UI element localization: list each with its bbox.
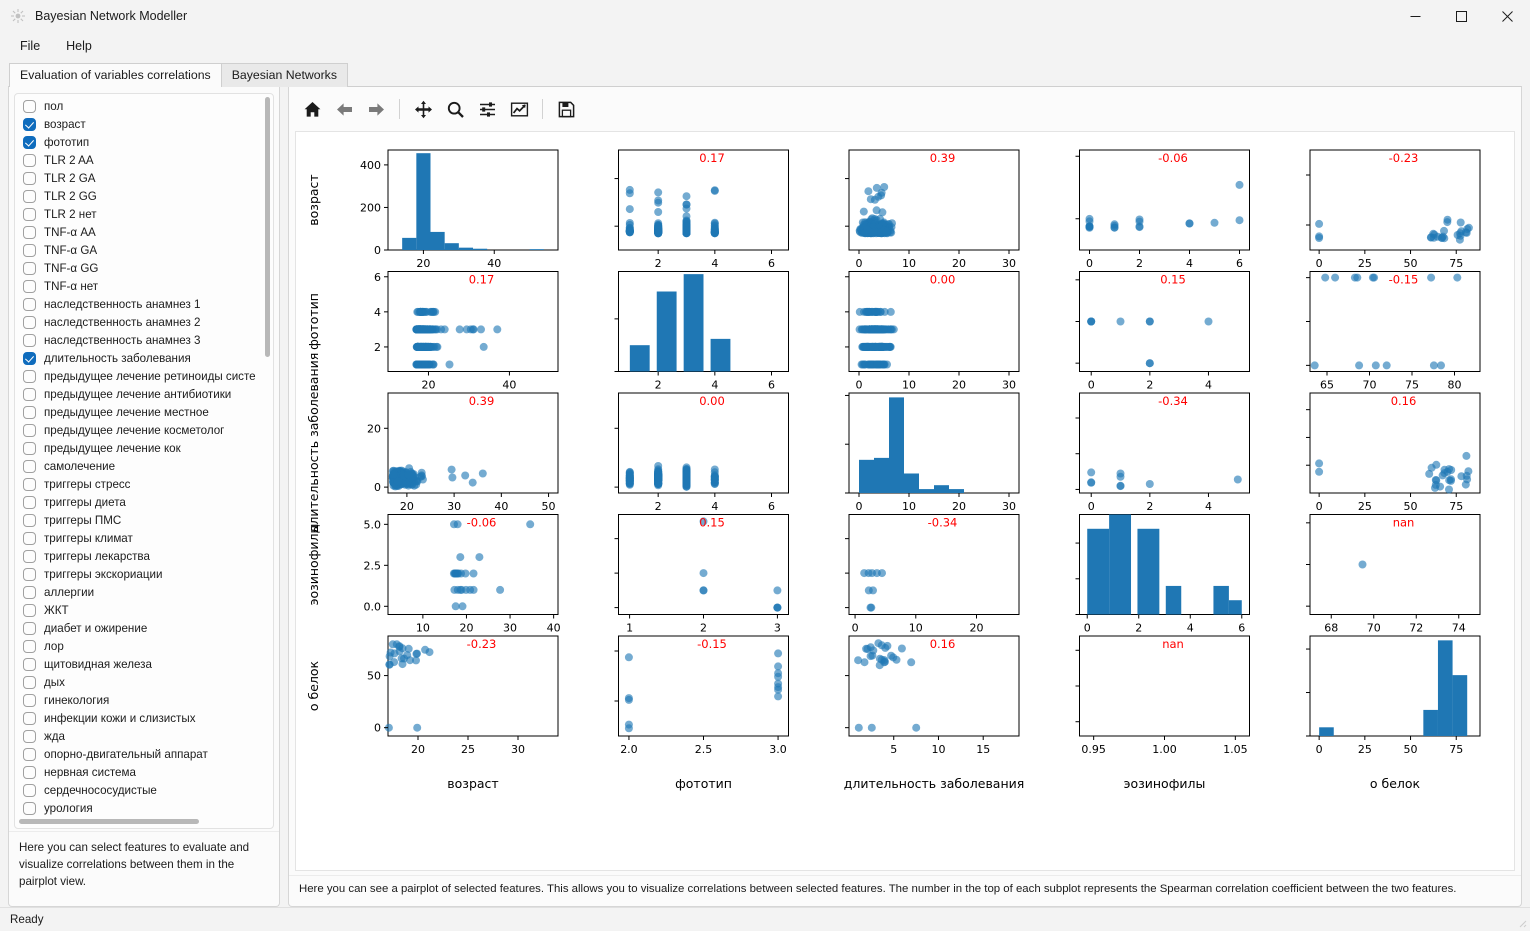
feature-checkbox[interactable] bbox=[23, 298, 36, 311]
x-tick-label: 5 bbox=[890, 743, 897, 756]
pairplot-cell-0-3[interactable]: -0.060246 bbox=[1076, 150, 1250, 270]
forward-arrow-icon[interactable] bbox=[361, 94, 391, 124]
feature-checkbox-row[interactable]: триггеры диета bbox=[18, 493, 261, 511]
feature-checkbox-row[interactable]: опорно-двигательный аппарат bbox=[18, 745, 261, 763]
feature-checkbox-row[interactable]: триггеры ПМС bbox=[18, 511, 261, 529]
x-tick-label: 30 bbox=[511, 743, 525, 756]
correlation-value: -0.23 bbox=[467, 637, 497, 651]
pairplot-cell-1-2[interactable]: 0.000102030 bbox=[845, 272, 1019, 392]
pairplot-cell-3-0[interactable]: -0.060.02.55.010203040 bbox=[364, 515, 561, 635]
x-tick-label: 3.0 bbox=[769, 743, 787, 756]
maximize-icon[interactable] bbox=[1438, 0, 1484, 32]
x-tick-label: 40 bbox=[487, 257, 501, 270]
feature-checkbox[interactable] bbox=[23, 784, 36, 797]
x-tick-label: 50 bbox=[1404, 257, 1418, 270]
feature-label: TNF-α AA bbox=[44, 226, 96, 239]
feature-checkbox-row[interactable]: возраст bbox=[18, 115, 261, 133]
pairplot-cell-2-4[interactable]: 0.160255075 bbox=[1306, 393, 1480, 513]
feature-checkbox[interactable] bbox=[23, 460, 36, 473]
x-tick-label: 1.05 bbox=[1223, 743, 1248, 756]
x-tick-label: 40 bbox=[502, 379, 516, 392]
feature-checkbox-row[interactable]: наследственность анамнез 2 bbox=[18, 313, 261, 331]
x-tick-label: 6 bbox=[1238, 622, 1245, 635]
x-tick-label: 2.5 bbox=[695, 743, 713, 756]
pairplot-cell-3-1[interactable]: 0.15123 bbox=[615, 515, 789, 635]
x-tick-label: 70 bbox=[1367, 622, 1381, 635]
x-tick-label: 25 bbox=[1358, 743, 1372, 756]
x-tick-label: 4 bbox=[711, 500, 718, 513]
feature-checkbox[interactable] bbox=[23, 712, 36, 725]
feature-label: TLR 2 AA bbox=[44, 154, 94, 167]
feature-label: TLR 2 GA bbox=[44, 172, 96, 185]
x-tick-label: 20 bbox=[970, 622, 984, 635]
x-axis-label: возраст bbox=[447, 776, 498, 791]
feature-checkbox-row[interactable]: TLR 2 нет bbox=[18, 205, 261, 223]
close-icon[interactable] bbox=[1484, 0, 1530, 32]
feature-checkbox-row[interactable]: наследственность анамнез 1 bbox=[18, 295, 261, 313]
y-tick-label: 200 bbox=[360, 201, 381, 214]
pairplot-cell-1-1[interactable]: 246 bbox=[615, 272, 789, 392]
correlation-value: 0.00 bbox=[699, 394, 725, 408]
correlation-value: nan bbox=[1393, 516, 1415, 530]
status-text: Ready bbox=[10, 913, 44, 926]
pairplot-cell-3-2[interactable]: -0.3401020 bbox=[845, 515, 1019, 635]
feature-checkbox[interactable] bbox=[23, 478, 36, 491]
feature-checkbox-row[interactable]: фототип bbox=[18, 133, 261, 151]
x-axis-label: длительность заболевания bbox=[844, 776, 1025, 791]
x-tick-label: 2 bbox=[1136, 257, 1143, 270]
pairplot-cell-1-4[interactable]: -0.1565707580 bbox=[1306, 272, 1480, 392]
feature-checkbox[interactable] bbox=[23, 550, 36, 563]
pairplot-canvas[interactable]: 020040020400.172460.390102030-0.060246-0… bbox=[295, 131, 1515, 871]
feature-checkbox[interactable] bbox=[23, 208, 36, 221]
app-window-icon bbox=[10, 8, 26, 24]
status-bar: Ready bbox=[0, 907, 1530, 931]
x-tick-label: 20 bbox=[400, 500, 414, 513]
feature-checkbox-row[interactable]: предыдущее лечение косметолог bbox=[18, 421, 261, 439]
x-tick-label: 2 bbox=[1135, 622, 1142, 635]
feature-checkbox[interactable] bbox=[23, 586, 36, 599]
correlation-value: -0.15 bbox=[697, 637, 727, 651]
feature-list-container: полвозрастфототипTLR 2 AATLR 2 GATLR 2 G… bbox=[14, 93, 274, 829]
x-tick-label: 0 bbox=[856, 257, 863, 270]
back-arrow-icon[interactable] bbox=[329, 94, 359, 124]
x-tick-label: 4 bbox=[711, 379, 718, 392]
feature-label: самолечение bbox=[44, 460, 115, 473]
feature-checkbox[interactable] bbox=[23, 226, 36, 239]
feature-checkbox[interactable] bbox=[23, 766, 36, 779]
x-tick-label: 4 bbox=[1205, 379, 1212, 392]
feature-checkbox-row[interactable]: ЖКТ bbox=[18, 601, 261, 619]
x-tick-label: 6 bbox=[1236, 257, 1243, 270]
feature-checkbox-row[interactable]: инфекции кожи и слизистых bbox=[18, 709, 261, 727]
feature-label: аллергии bbox=[44, 586, 94, 599]
feature-checkbox-row[interactable]: нервная система bbox=[18, 763, 261, 781]
x-tick-label: 0 bbox=[856, 500, 863, 513]
feature-label: триггеры стресс bbox=[44, 478, 130, 491]
x-tick-label: 10 bbox=[909, 622, 923, 635]
feature-checkbox[interactable] bbox=[23, 514, 36, 527]
x-tick-label: 68 bbox=[1324, 622, 1338, 635]
y-tick-label: 4 bbox=[374, 306, 381, 319]
y-tick-label: 2 bbox=[374, 341, 381, 354]
y-axis-label: о белок bbox=[306, 660, 321, 711]
x-tick-label: 6 bbox=[768, 379, 775, 392]
feature-label: TLR 2 нет bbox=[44, 208, 97, 221]
x-tick-label: 0 bbox=[1088, 500, 1095, 513]
x-tick-label: 25 bbox=[1358, 500, 1372, 513]
app-window: Bayesian Network Modeller File Help Eval… bbox=[0, 0, 1530, 931]
feature-checkbox[interactable] bbox=[23, 316, 36, 329]
feature-checkbox-row[interactable]: триггеры лекарства bbox=[18, 547, 261, 565]
feature-checkbox-row[interactable]: TLR 2 GA bbox=[18, 169, 261, 187]
configure-subplots-icon[interactable] bbox=[472, 94, 502, 124]
correlation-value: -0.34 bbox=[1158, 394, 1188, 408]
pairplot-cell-1-3[interactable]: 0.15024 bbox=[1076, 272, 1250, 392]
x-tick-label: 6 bbox=[768, 500, 775, 513]
feature-checkbox[interactable] bbox=[23, 676, 36, 689]
y-tick-label: 20 bbox=[367, 422, 381, 435]
y-axis-label: возраст bbox=[306, 174, 321, 225]
x-tick-label: 0.95 bbox=[1081, 743, 1106, 756]
feature-checkbox-row[interactable]: TNF-α AA bbox=[18, 223, 261, 241]
x-tick-label: 30 bbox=[447, 500, 461, 513]
correlation-value: 0.15 bbox=[1160, 273, 1186, 287]
save-floppy-icon[interactable] bbox=[551, 94, 581, 124]
y-tick-label: 400 bbox=[360, 159, 381, 172]
x-tick-label: 10 bbox=[416, 622, 430, 635]
feature-checkbox[interactable] bbox=[23, 442, 36, 455]
feature-checkbox[interactable] bbox=[23, 244, 36, 257]
feature-checkbox-row[interactable]: сердечнососудистые bbox=[18, 781, 261, 799]
feature-checkbox-row[interactable]: предыдущее лечение кок bbox=[18, 439, 261, 457]
feature-checkbox-row[interactable]: аллергии bbox=[18, 583, 261, 601]
x-tick-label: 2 bbox=[1146, 500, 1153, 513]
feature-label: опорно-двигательный аппарат bbox=[44, 748, 208, 761]
correlation-value: -0.06 bbox=[467, 516, 497, 530]
x-tick-label: 4 bbox=[711, 257, 718, 270]
feature-label: TLR 2 GG bbox=[44, 190, 97, 203]
pairplot-cell-2-0[interactable]: 0.3902020304050 bbox=[367, 393, 558, 513]
pairplot-panel: 020040020400.172460.390102030-0.060246-0… bbox=[288, 86, 1522, 907]
feature-checkbox[interactable] bbox=[23, 388, 36, 401]
minimize-icon[interactable] bbox=[1392, 0, 1438, 32]
correlation-value: -0.34 bbox=[928, 516, 958, 530]
x-tick-label: 6 bbox=[768, 257, 775, 270]
feature-checkbox[interactable] bbox=[23, 334, 36, 347]
x-tick-label: 20 bbox=[952, 379, 966, 392]
main-content: полвозрастфототипTLR 2 AATLR 2 GATLR 2 G… bbox=[0, 86, 1530, 907]
x-tick-label: 0 bbox=[856, 379, 863, 392]
feature-label: триггеры климат bbox=[44, 532, 133, 545]
x-tick-label: 30 bbox=[1002, 379, 1016, 392]
feature-label: лор bbox=[44, 640, 64, 653]
x-tick-label: 30 bbox=[503, 622, 517, 635]
feature-label: сердечнососудистые bbox=[44, 784, 157, 797]
pairplot-cell-2-3[interactable]: -0.34024 bbox=[1076, 393, 1250, 513]
feature-label: триггеры лекарства bbox=[44, 550, 150, 563]
x-tick-label: 0 bbox=[852, 622, 859, 635]
feature-checkbox-row[interactable]: TLR 2 GG bbox=[18, 187, 261, 205]
feature-checkbox[interactable] bbox=[23, 604, 36, 617]
feature-checkbox-row[interactable]: наследственность анамнез 3 bbox=[18, 331, 261, 349]
correlation-value: 0.00 bbox=[930, 273, 956, 287]
feature-label: наследственность анамнез 3 bbox=[44, 334, 200, 347]
feature-label: предыдущее лечение ретиноиды систе bbox=[44, 370, 256, 383]
feature-selection-panel: полвозрастфототипTLR 2 AATLR 2 GATLR 2 G… bbox=[8, 86, 280, 907]
feature-label: длительность заболевания bbox=[44, 352, 191, 365]
feature-checkbox-row[interactable]: предыдущее лечение ретиноиды систе bbox=[18, 367, 261, 385]
feature-list[interactable]: полвозрастфототипTLR 2 AATLR 2 GATLR 2 G… bbox=[18, 97, 261, 816]
correlation-value: 0.17 bbox=[469, 273, 495, 287]
y-axis-label: фототип bbox=[306, 293, 321, 350]
feature-checkbox-row[interactable]: гинекология bbox=[18, 691, 261, 709]
feature-label: предыдущее лечение косметолог bbox=[44, 424, 224, 437]
feature-label: предыдущее лечение кок bbox=[44, 442, 181, 455]
correlation-value: 0.39 bbox=[930, 151, 956, 165]
pairplot-cell-3-4[interactable]: nan68707274 bbox=[1306, 515, 1480, 635]
menu-file[interactable]: File bbox=[8, 35, 52, 57]
feature-label: дых bbox=[44, 676, 65, 689]
x-tick-label: 75 bbox=[1449, 500, 1463, 513]
feature-checkbox-row[interactable]: жда bbox=[18, 727, 261, 745]
feature-checkbox-row[interactable]: TNF-α нет bbox=[18, 277, 261, 295]
x-tick-label: 2 bbox=[655, 379, 662, 392]
correlation-value: 0.15 bbox=[699, 516, 725, 530]
feature-checkbox[interactable] bbox=[23, 280, 36, 293]
feature-label: TNF-α нет bbox=[44, 280, 98, 293]
x-tick-label: 0 bbox=[1316, 743, 1323, 756]
title-bar: Bayesian Network Modeller bbox=[0, 0, 1530, 32]
feature-label: предыдущее лечение местное bbox=[44, 406, 209, 419]
feature-checkbox-row[interactable]: урология bbox=[18, 799, 261, 816]
pairplot-cell-1-0[interactable]: 0.172462040 bbox=[374, 271, 558, 392]
feature-checkbox-row[interactable]: пол bbox=[18, 97, 261, 115]
feature-checkbox[interactable] bbox=[23, 694, 36, 707]
feature-checkbox[interactable] bbox=[23, 136, 36, 149]
pairplot-cell-4-0[interactable]: -0.23050202530 bbox=[367, 636, 558, 756]
x-tick-label: 0 bbox=[1084, 622, 1091, 635]
feature-checkbox[interactable] bbox=[23, 352, 36, 365]
correlation-value: -0.15 bbox=[1389, 273, 1419, 287]
correlation-value: 0.16 bbox=[1391, 394, 1417, 408]
x-tick-label: 72 bbox=[1409, 622, 1423, 635]
x-tick-label: 4 bbox=[1205, 500, 1212, 513]
feature-checkbox-row[interactable]: самолечение bbox=[18, 457, 261, 475]
tab-evaluation-of-variables-correlations[interactable]: Evaluation of variables correlations bbox=[9, 63, 222, 87]
x-tick-label: 3 bbox=[774, 622, 781, 635]
x-axis-label: фототип bbox=[675, 776, 732, 791]
correlation-value: nan bbox=[1162, 637, 1184, 651]
x-tick-label: 2 bbox=[1146, 379, 1153, 392]
feature-label: урология bbox=[44, 802, 93, 815]
pairplot-cell-0-4[interactable]: -0.230255075 bbox=[1306, 150, 1480, 270]
x-tick-label: 80 bbox=[1448, 379, 1462, 392]
feature-checkbox[interactable] bbox=[23, 406, 36, 419]
pairplot-cell-0-2[interactable]: 0.390102030 bbox=[845, 150, 1019, 270]
x-tick-label: 10 bbox=[931, 743, 945, 756]
x-tick-label: 50 bbox=[1404, 500, 1418, 513]
x-tick-label: 70 bbox=[1363, 379, 1377, 392]
window-title: Bayesian Network Modeller bbox=[35, 9, 187, 23]
x-tick-label: 20 bbox=[421, 379, 435, 392]
feature-checkbox[interactable] bbox=[23, 118, 36, 131]
x-tick-label: 20 bbox=[459, 622, 473, 635]
x-tick-label: 40 bbox=[494, 500, 508, 513]
resize-grip-icon[interactable] bbox=[1515, 916, 1527, 928]
x-tick-label: 20 bbox=[416, 257, 430, 270]
x-tick-label: 50 bbox=[542, 500, 556, 513]
y-axis-label: длительность заболевания bbox=[306, 353, 321, 534]
sidebar-hint-text: Here you can select features to evaluate… bbox=[9, 831, 279, 906]
feature-checkbox-row[interactable]: триггеры экскориации bbox=[18, 565, 261, 583]
correlation-value: 0.16 bbox=[930, 637, 956, 651]
pairplot-cell-4-4[interactable]: 0255075 bbox=[1306, 636, 1480, 756]
pan-move-icon[interactable] bbox=[408, 94, 438, 124]
feature-label: диабет и ожирение bbox=[44, 622, 147, 635]
feature-checkbox-row[interactable]: TNF-α GA bbox=[18, 241, 261, 259]
x-tick-label: 65 bbox=[1320, 379, 1334, 392]
pairplot-cell-2-2[interactable]: 0102030 bbox=[845, 393, 1019, 513]
x-tick-label: 10 bbox=[902, 379, 916, 392]
feature-label: инфекции кожи и слизистых bbox=[44, 712, 196, 725]
pairplot-cell-0-0[interactable]: 02004002040 bbox=[360, 150, 558, 270]
pairplot-hint-text: Here you can see a pairplot of selected … bbox=[289, 875, 1521, 906]
x-tick-label: 1 bbox=[626, 622, 633, 635]
feature-label: TNF-α GG bbox=[44, 262, 98, 275]
zoom-magnifier-icon[interactable] bbox=[440, 94, 470, 124]
pairplot-cell-4-3[interactable]: nan0.951.001.05 bbox=[1076, 636, 1250, 756]
feature-checkbox-row[interactable]: триггеры климат bbox=[18, 529, 261, 547]
pairplot-cell-4-1[interactable]: -0.152.02.53.0 bbox=[615, 636, 789, 756]
x-tick-label: 74 bbox=[1452, 622, 1466, 635]
x-tick-label: 2 bbox=[655, 257, 662, 270]
pairplot-cell-2-1[interactable]: 0.00246 bbox=[615, 393, 789, 513]
correlation-value: -0.23 bbox=[1389, 151, 1419, 165]
feature-checkbox[interactable] bbox=[23, 568, 36, 581]
feature-checkbox-row[interactable]: TLR 2 AA bbox=[18, 151, 261, 169]
feature-label: триггеры диета bbox=[44, 496, 126, 509]
window-controls bbox=[1392, 0, 1530, 32]
feature-checkbox[interactable] bbox=[23, 190, 36, 203]
feature-checkbox-row[interactable]: предыдущее лечение антибиотики bbox=[18, 385, 261, 403]
x-tick-label: 0 bbox=[1316, 257, 1323, 270]
correlation-value: -0.06 bbox=[1158, 151, 1188, 165]
x-tick-label: 0 bbox=[1316, 500, 1323, 513]
x-tick-label: 20 bbox=[952, 500, 966, 513]
pairplot-figure[interactable]: 020040020400.172460.390102030-0.060246-0… bbox=[296, 132, 1496, 822]
x-tick-label: 75 bbox=[1449, 257, 1463, 270]
x-tick-label: 0 bbox=[1086, 257, 1093, 270]
x-tick-label: 10 bbox=[902, 257, 916, 270]
pairplot-cell-4-2[interactable]: 0.1651015 bbox=[845, 636, 1019, 756]
x-tick-label: 25 bbox=[1358, 257, 1372, 270]
menu-bar: File Help bbox=[0, 32, 1530, 60]
x-tick-label: 1.00 bbox=[1152, 743, 1177, 756]
y-axis-label: эозинофилы bbox=[306, 524, 321, 606]
feature-label: щитовидная железа bbox=[44, 658, 152, 671]
feature-checkbox[interactable] bbox=[23, 622, 36, 635]
menu-help[interactable]: Help bbox=[54, 35, 104, 57]
edit-axis-curve-icon[interactable] bbox=[504, 94, 534, 124]
x-tick-label: 2 bbox=[655, 500, 662, 513]
y-tick-label: 2.5 bbox=[364, 559, 382, 572]
y-tick-label: 5.0 bbox=[364, 518, 382, 531]
correlation-value: 0.39 bbox=[469, 394, 495, 408]
feature-checkbox[interactable] bbox=[23, 658, 36, 671]
toolbar-separator bbox=[399, 99, 400, 119]
feature-label: возраст bbox=[44, 118, 86, 131]
feature-checkbox-row[interactable]: предыдущее лечение местное bbox=[18, 403, 261, 421]
x-axis-label: эозинофилы bbox=[1124, 776, 1206, 791]
feature-label: нервная система bbox=[44, 766, 136, 779]
feature-label: гинекология bbox=[44, 694, 109, 707]
feature-checkbox-row[interactable]: диабет и ожирение bbox=[18, 619, 261, 637]
pairplot-cell-3-3[interactable]: 0246 bbox=[1076, 515, 1250, 635]
toolbar-separator-2 bbox=[542, 99, 543, 119]
x-tick-label: 30 bbox=[1002, 257, 1016, 270]
feature-label: жда bbox=[44, 730, 65, 743]
feature-label: наследственность анамнез 1 bbox=[44, 298, 200, 311]
feature-checkbox[interactable] bbox=[23, 154, 36, 167]
x-tick-label: 2 bbox=[700, 622, 707, 635]
x-tick-label: 30 bbox=[1002, 500, 1016, 513]
feature-checkbox-row[interactable]: длительность заболевания bbox=[18, 349, 261, 367]
feature-checkbox[interactable] bbox=[23, 532, 36, 545]
correlation-value: 0.17 bbox=[699, 151, 725, 165]
feature-checkbox-row[interactable]: триггеры стресс bbox=[18, 475, 261, 493]
feature-checkbox[interactable] bbox=[23, 640, 36, 653]
x-tick-label: 15 bbox=[976, 743, 990, 756]
feature-checkbox-row[interactable]: лор bbox=[18, 637, 261, 655]
feature-label: TNF-α GA bbox=[44, 244, 97, 257]
feature-checkbox[interactable] bbox=[23, 424, 36, 437]
feature-checkbox[interactable] bbox=[23, 262, 36, 275]
x-tick-label: 75 bbox=[1449, 743, 1463, 756]
y-tick-label: 50 bbox=[367, 670, 381, 683]
x-tick-label: 50 bbox=[1404, 743, 1418, 756]
tab-bayesian-networks[interactable]: Bayesian Networks bbox=[221, 63, 348, 87]
feature-checkbox[interactable] bbox=[23, 802, 36, 815]
x-tick-label: 0 bbox=[1088, 379, 1095, 392]
x-tick-label: 40 bbox=[547, 622, 561, 635]
feature-checkbox[interactable] bbox=[23, 748, 36, 761]
x-tick-label: 10 bbox=[902, 500, 916, 513]
feature-label: фототип bbox=[44, 136, 89, 149]
feature-list-horizontal-scrollbar[interactable] bbox=[19, 818, 259, 825]
pairplot-cell-0-1[interactable]: 0.17246 bbox=[615, 150, 789, 270]
feature-checkbox-row[interactable]: TNF-α GG bbox=[18, 259, 261, 277]
feature-label: триггеры экскориации bbox=[44, 568, 162, 581]
x-tick-label: 20 bbox=[952, 257, 966, 270]
x-tick-label: 2.0 bbox=[620, 743, 638, 756]
feature-checkbox[interactable] bbox=[23, 100, 36, 113]
feature-list-vertical-scrollbar[interactable] bbox=[264, 97, 271, 814]
y-tick-label: 6 bbox=[374, 271, 381, 284]
tab-strip: Evaluation of variables correlations Bay… bbox=[0, 60, 1530, 86]
matplotlib-toolbar bbox=[289, 87, 1521, 131]
feature-checkbox-row[interactable]: дых bbox=[18, 673, 261, 691]
feature-checkbox[interactable] bbox=[23, 730, 36, 743]
feature-label: наследственность анамнез 2 bbox=[44, 316, 200, 329]
feature-checkbox-row[interactable]: щитовидная железа bbox=[18, 655, 261, 673]
home-icon[interactable] bbox=[297, 94, 327, 124]
feature-checkbox[interactable] bbox=[23, 172, 36, 185]
feature-checkbox[interactable] bbox=[23, 370, 36, 383]
x-tick-label: 4 bbox=[1186, 257, 1193, 270]
x-tick-label: 75 bbox=[1405, 379, 1419, 392]
feature-checkbox[interactable] bbox=[23, 496, 36, 509]
